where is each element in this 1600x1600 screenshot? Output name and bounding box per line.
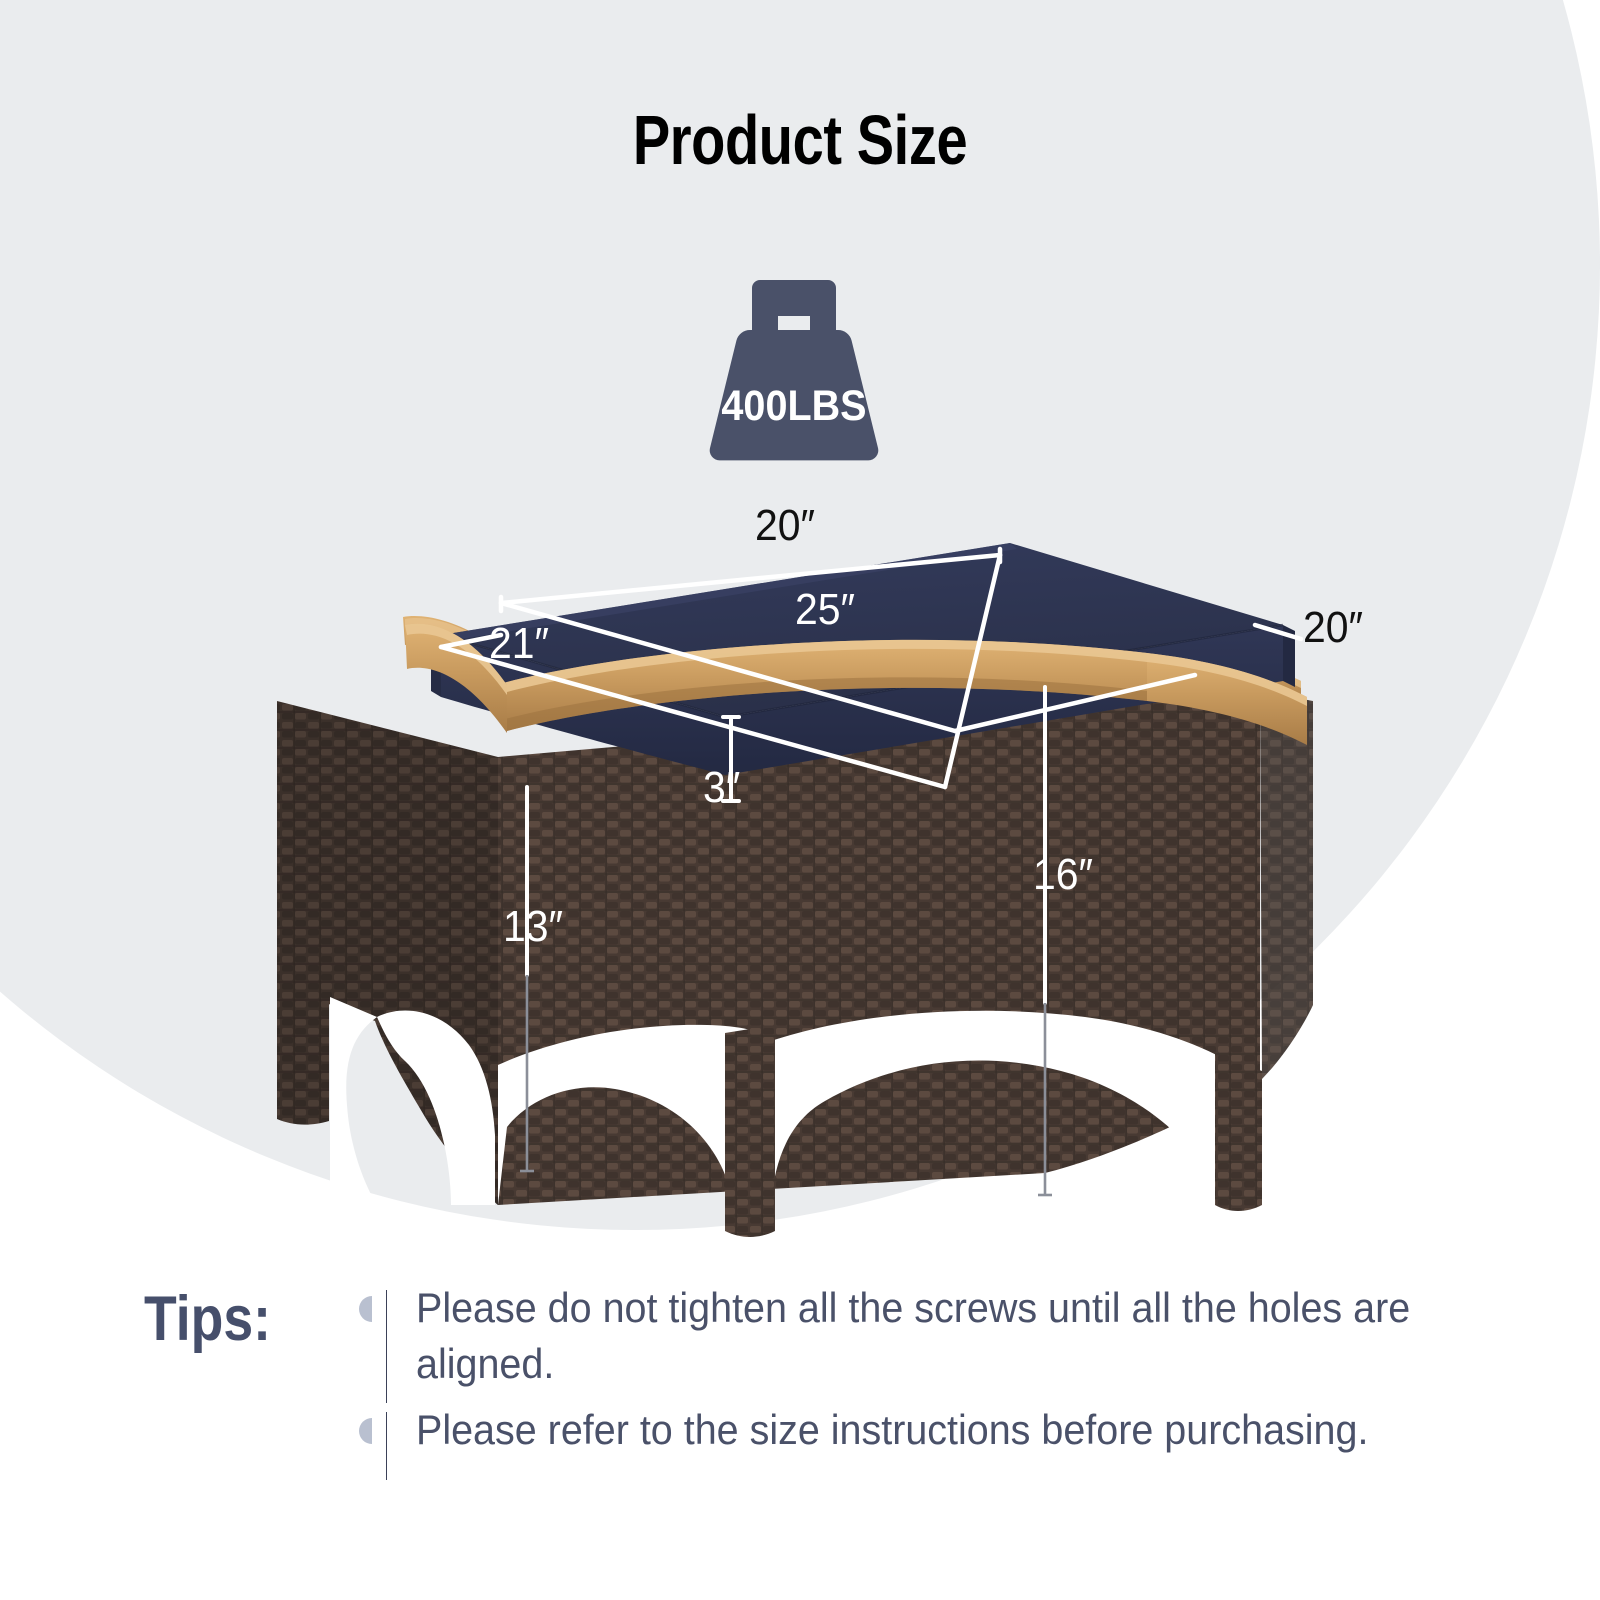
tip-text: Please refer to the size instructions be…	[416, 1402, 1459, 1458]
infographic-canvas: Product Size 400LBS	[0, 0, 1600, 1600]
tip-text: Please do not tighten all the screws unt…	[416, 1280, 1459, 1392]
page-title: Product Size	[160, 104, 1440, 178]
bullet-half-circle-icon	[359, 1418, 372, 1444]
dimension-label-20-right: 20″	[1303, 606, 1363, 650]
dimension-label-25: 25″	[795, 588, 855, 632]
tips-list: Please do not tighten all the screws unt…	[359, 1280, 1544, 1462]
tip-item: Please do not tighten all the screws unt…	[359, 1280, 1544, 1402]
weight-capacity-value: 400LBS	[696, 382, 891, 431]
weight-icon	[688, 272, 900, 474]
dimension-label-3: 3″	[703, 766, 740, 810]
bullet-half-circle-icon	[359, 1296, 372, 1322]
tip-divider	[386, 1412, 387, 1480]
dimension-label-21: 21″	[489, 622, 549, 666]
ottoman-drawing	[255, 505, 1315, 1245]
tip-divider	[386, 1290, 387, 1403]
dimension-label-16: 16″	[1033, 853, 1093, 897]
dimension-label-13: 13″	[503, 905, 563, 949]
tip-item: Please refer to the size instructions be…	[359, 1402, 1544, 1462]
dimension-label-20-top: 20″	[755, 504, 815, 548]
weight-capacity-badge: 400LBS	[688, 272, 900, 474]
tips-heading: Tips:	[144, 1288, 271, 1351]
product-illustration	[255, 505, 1315, 1245]
